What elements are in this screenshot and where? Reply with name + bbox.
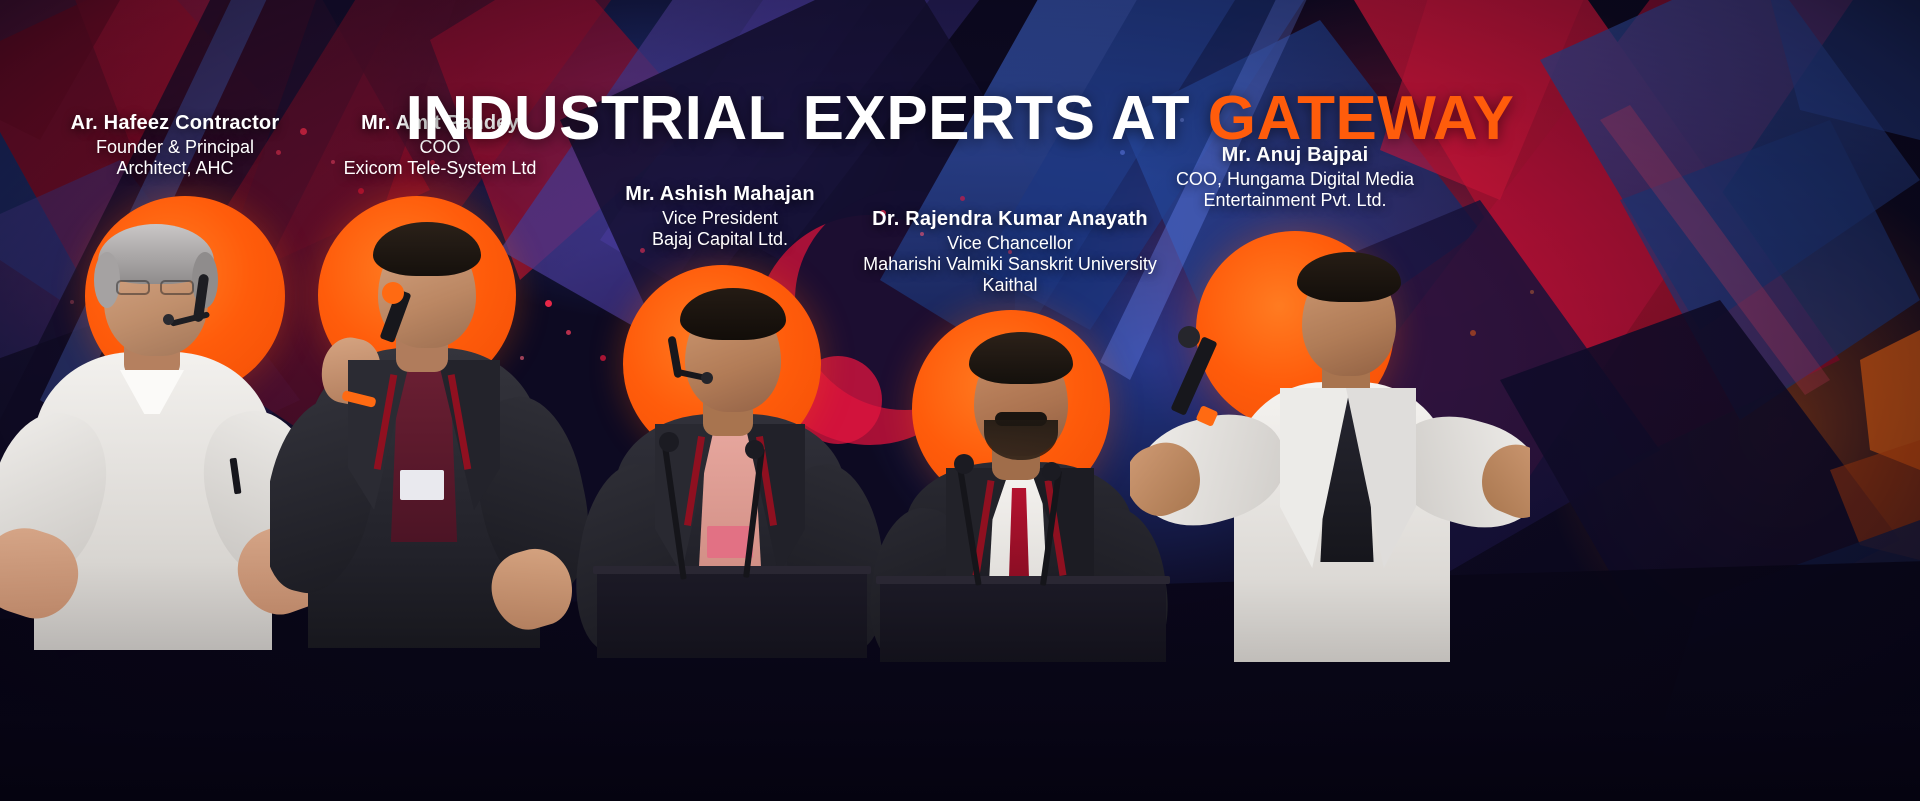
speaker-caption-4: Dr. Rajendra Kumar Anayath Vice Chancell… xyxy=(840,208,1180,296)
speaker-org-line2: Kaithal xyxy=(840,275,1180,296)
speaker-role: COO, Hungama Digital Media xyxy=(1130,169,1460,190)
speaker-role: Vice President xyxy=(570,208,870,229)
speaker-name: Dr. Rajendra Kumar Anayath xyxy=(840,208,1180,231)
speaker-name: Mr. Ashish Mahajan xyxy=(570,183,870,206)
speaker-caption-3: Mr. Ashish Mahajan Vice President Bajaj … xyxy=(570,183,870,250)
speaker-portrait-3 xyxy=(575,268,905,658)
speaker-portrait-2 xyxy=(270,198,600,648)
banner-stage: INDUSTRIAL EXPERTS AT GATEWAY Ar. Hafeez… xyxy=(0,0,1920,801)
title-main-text: INDUSTRIAL EXPERTS AT xyxy=(406,84,1208,153)
title-highlight-text: GATEWAY xyxy=(1208,84,1515,153)
page-title: INDUSTRIAL EXPERTS AT GATEWAY xyxy=(0,88,1920,150)
speaker-org: Entertainment Pvt. Ltd. xyxy=(1130,190,1460,211)
speaker-caption-5: Mr. Anuj Bajpai COO, Hungama Digital Med… xyxy=(1130,144,1460,211)
speaker-portrait-5 xyxy=(1130,232,1530,662)
speaker-org: Maharishi Valmiki Sanskrit University xyxy=(840,254,1180,275)
speaker-org: Bajaj Capital Ltd. xyxy=(570,229,870,250)
speaker-role: Vice Chancellor xyxy=(840,233,1180,254)
speaker-org: Exicom Tele-System Ltd xyxy=(290,158,590,179)
